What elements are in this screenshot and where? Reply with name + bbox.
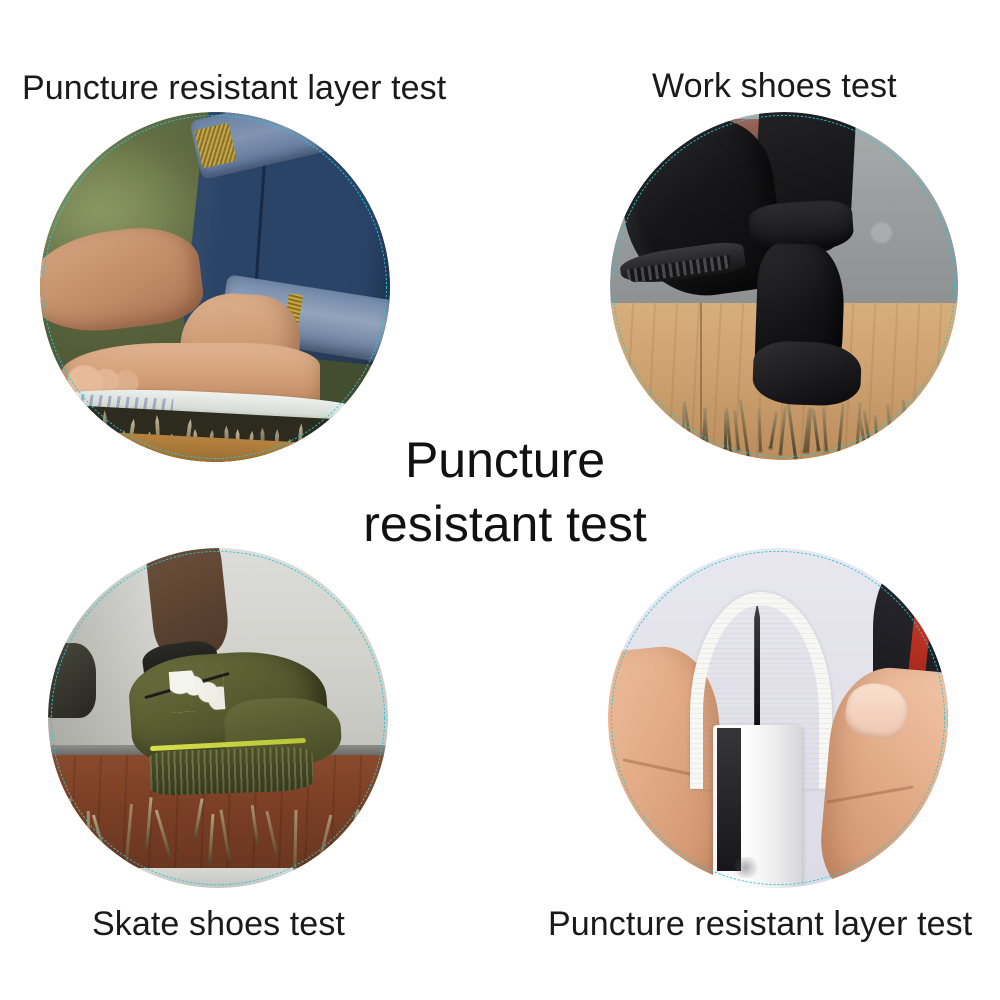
nail [219, 810, 231, 862]
panel-label-bottom-left: Skate shoes test [92, 906, 345, 943]
photo4-steel-spike [754, 606, 760, 728]
infographic-canvas: Puncture resistant layer test Work [0, 0, 1000, 1000]
nail [92, 815, 108, 860]
nail [822, 407, 828, 451]
nail [887, 404, 894, 454]
nail [358, 812, 374, 875]
nail [338, 809, 360, 876]
panel-label-top-right: Work shoes test [652, 68, 897, 105]
nail [873, 415, 878, 445]
nail [313, 815, 332, 882]
nail [87, 811, 91, 879]
nail [812, 409, 820, 450]
nail [779, 406, 787, 454]
nail [769, 411, 778, 448]
photo-skate-shoe-on-nails [48, 548, 388, 888]
nail [375, 813, 378, 860]
photo-work-shoes-on-nails [610, 112, 958, 460]
photo3-midsole [149, 746, 314, 796]
nail [155, 810, 172, 859]
nail [64, 798, 72, 848]
panel-label-top-left: Puncture resistant layer test [22, 70, 446, 107]
nail [932, 412, 938, 448]
center-title: Puncture resistant test [290, 428, 720, 556]
photo3-dark-object-left [48, 643, 96, 718]
panel-label-bottom-right: Puncture resistant layer test [548, 906, 972, 943]
nail [266, 810, 280, 858]
panel-photo-top-right [610, 112, 958, 460]
nail [837, 404, 845, 454]
nail [293, 810, 298, 886]
photo3-laces [169, 669, 226, 713]
photo-fabric-spike-test [608, 548, 948, 888]
nail [124, 804, 133, 873]
panel-photo-bottom-left [48, 548, 388, 888]
photo2-right-boot-toe [752, 340, 862, 406]
center-title-line-2: resistant test [290, 492, 720, 556]
nail [208, 814, 214, 863]
nail [145, 797, 153, 850]
photo4-cylinder-mark [730, 857, 761, 877]
center-title-line-1: Puncture [290, 428, 720, 492]
photo-puncture-resistant-layer-foot [40, 112, 390, 462]
panel-photo-bottom-right [608, 548, 948, 888]
nail [919, 412, 927, 449]
photo4-cylinder-shadow-band [717, 728, 741, 871]
nail [733, 410, 740, 450]
nail [250, 805, 258, 845]
nail [193, 799, 204, 841]
nail [787, 400, 798, 458]
nail [757, 408, 762, 451]
panel-photo-top-left [40, 112, 390, 462]
